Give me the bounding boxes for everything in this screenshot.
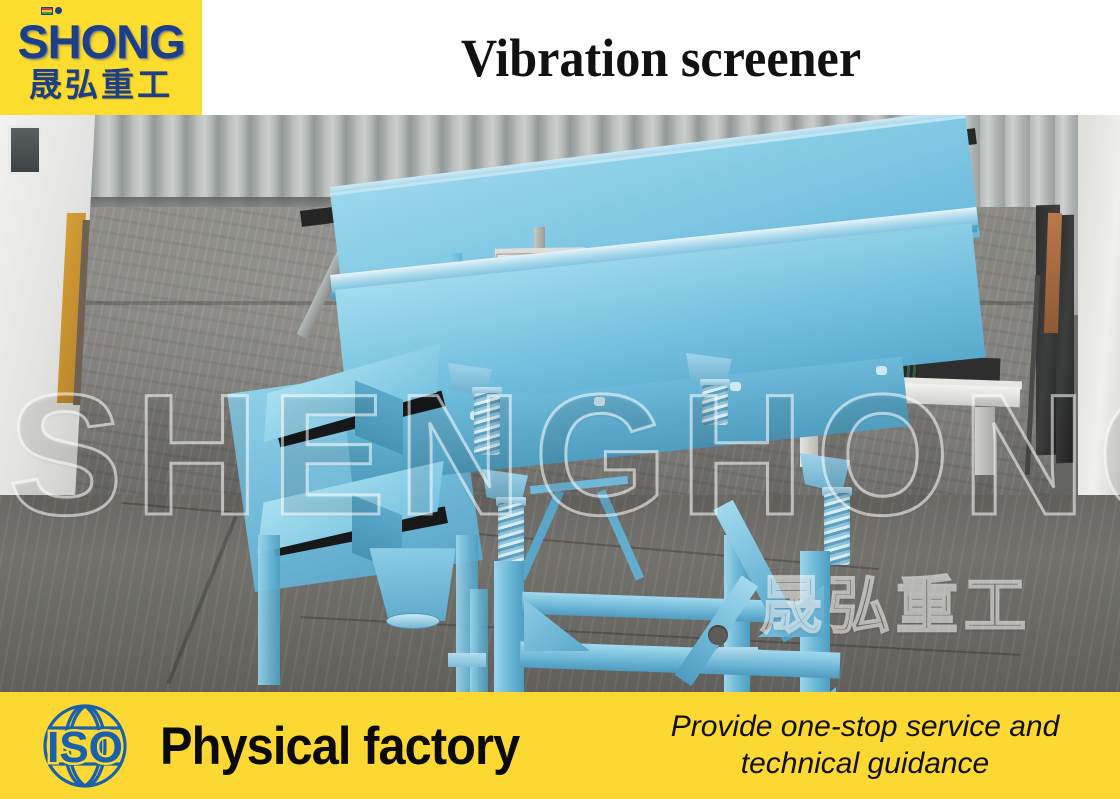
footer-tagline-line-1: Provide one-stop service and <box>671 709 1060 746</box>
rail-bolt-3 <box>730 382 741 391</box>
rail-bolt-2 <box>594 397 605 406</box>
company-logo: SHONG 晟弘重工 <box>0 0 202 115</box>
iso-globe-icon: ISO ISO <box>24 700 146 792</box>
page-title: Vibration screener <box>234 0 1088 115</box>
footer-tagline-line-2: technical guidance <box>741 746 990 783</box>
vibration-screener-machine <box>0 115 1120 692</box>
footer-tagline: Provide one-stop service and technical g… <box>620 698 1110 794</box>
footer-headline: Physical factory <box>160 700 574 792</box>
frame-leg-front-left <box>494 561 524 692</box>
frame-foot-rear-left <box>448 653 486 667</box>
funnel-outlet-ring <box>386 613 440 629</box>
product-banner-image: SHONG 晟弘重工 Vibration screener <box>0 0 1120 799</box>
rear-machine-leg-2 <box>470 589 488 692</box>
v-stiffener-top <box>530 476 628 494</box>
rear-machine-leg <box>258 535 280 685</box>
product-photo: SHENGHONG 晟弘重工 <box>0 115 1120 692</box>
rail-bolt-4 <box>876 366 887 375</box>
coil-spring-1 <box>474 393 500 455</box>
logo-brand-chinese: 晟弘重工 <box>0 62 202 108</box>
header-bar: SHONG 晟弘重工 Vibration screener <box>0 0 1120 115</box>
svg-text:ISO: ISO <box>47 723 123 772</box>
frame-foot-rear-right <box>718 647 758 661</box>
v-stiffener-right <box>597 489 644 580</box>
gusset-hole-1 <box>708 625 728 645</box>
coil-spring-4 <box>702 385 728 425</box>
